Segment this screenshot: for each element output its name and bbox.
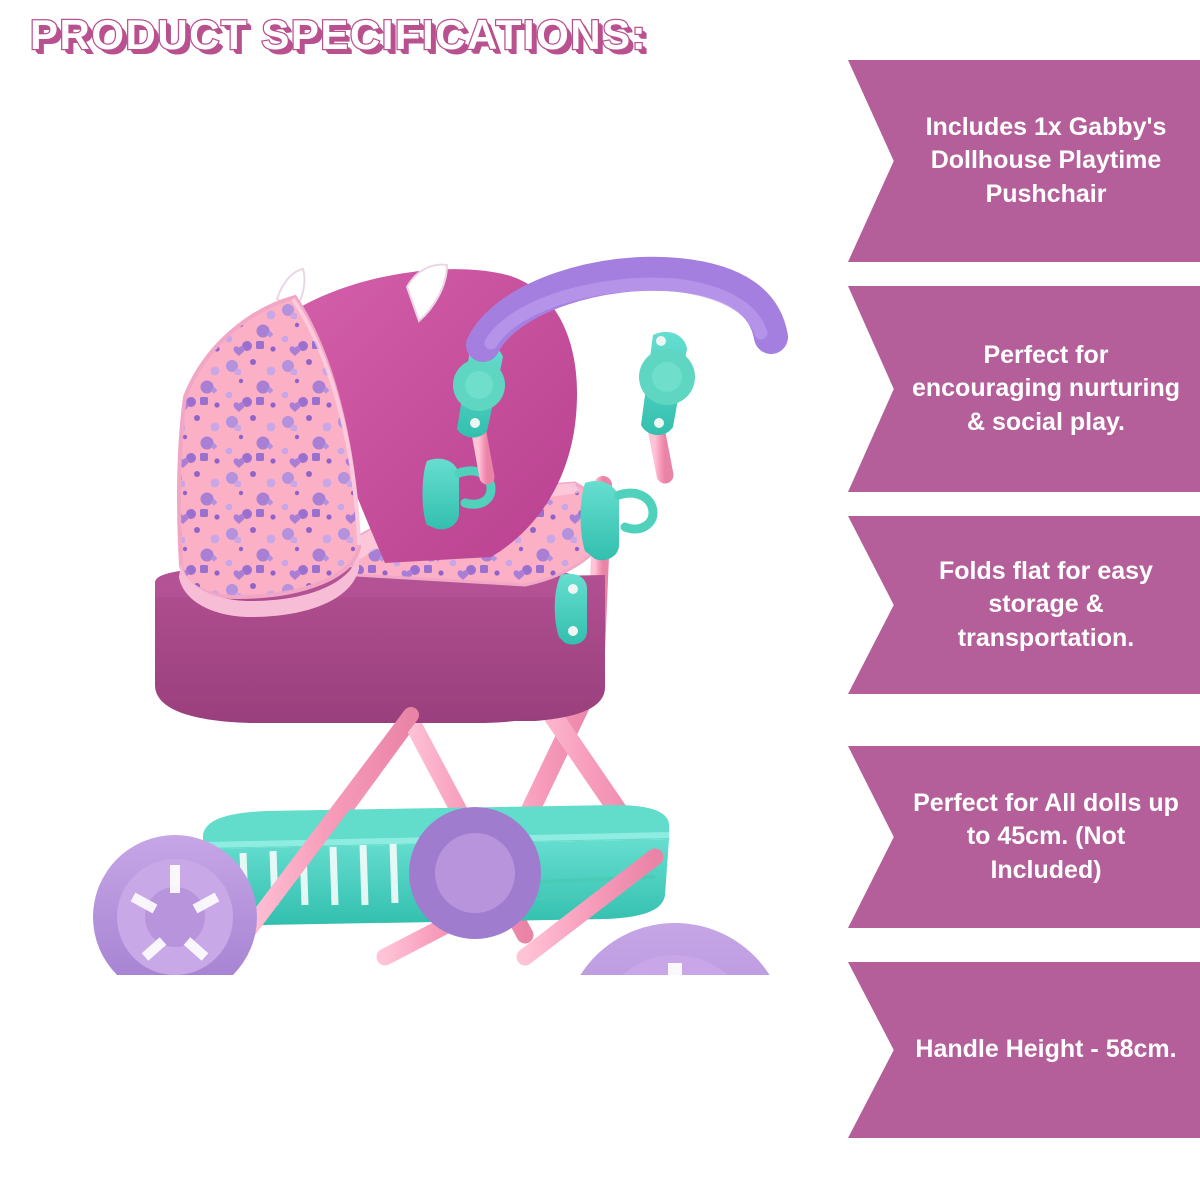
spec-banner-text: Handle Height - 58cm. <box>910 1033 1182 1066</box>
wheels <box>93 807 787 975</box>
page-title: PRODUCT SPECIFICATIONS: <box>30 14 647 56</box>
spec-banner-handle-height: Handle Height - 58cm. <box>848 962 1200 1138</box>
spec-banner-folds-flat: Folds flat for easy storage & transporta… <box>848 516 1200 694</box>
wheel-rear-right <box>409 807 541 939</box>
spec-banner-text: Perfect for encouraging nurturing & soci… <box>910 339 1182 439</box>
spec-banner-nurturing: Perfect for encouraging nurturing & soci… <box>848 286 1200 492</box>
specifications-banner-list: Includes 1x Gabby's Dollhouse Playtime P… <box>848 0 1200 1200</box>
spec-banner-text: Folds flat for easy storage & transporta… <box>910 555 1182 655</box>
spec-banner-includes: Includes 1x Gabby's Dollhouse Playtime P… <box>848 60 1200 262</box>
spec-banner-text: Perfect for All dolls up to 45cm. (Not I… <box>910 787 1182 887</box>
product-specifications-page: PRODUCT SPECIFICATIONS: <box>0 0 1200 1200</box>
spec-banner-text: Includes 1x Gabby's Dollhouse Playtime P… <box>910 111 1182 211</box>
product-image <box>55 245 835 975</box>
spec-banner-doll-size: Perfect for All dolls up to 45cm. (Not I… <box>848 746 1200 928</box>
wheel-front-right <box>563 923 787 975</box>
